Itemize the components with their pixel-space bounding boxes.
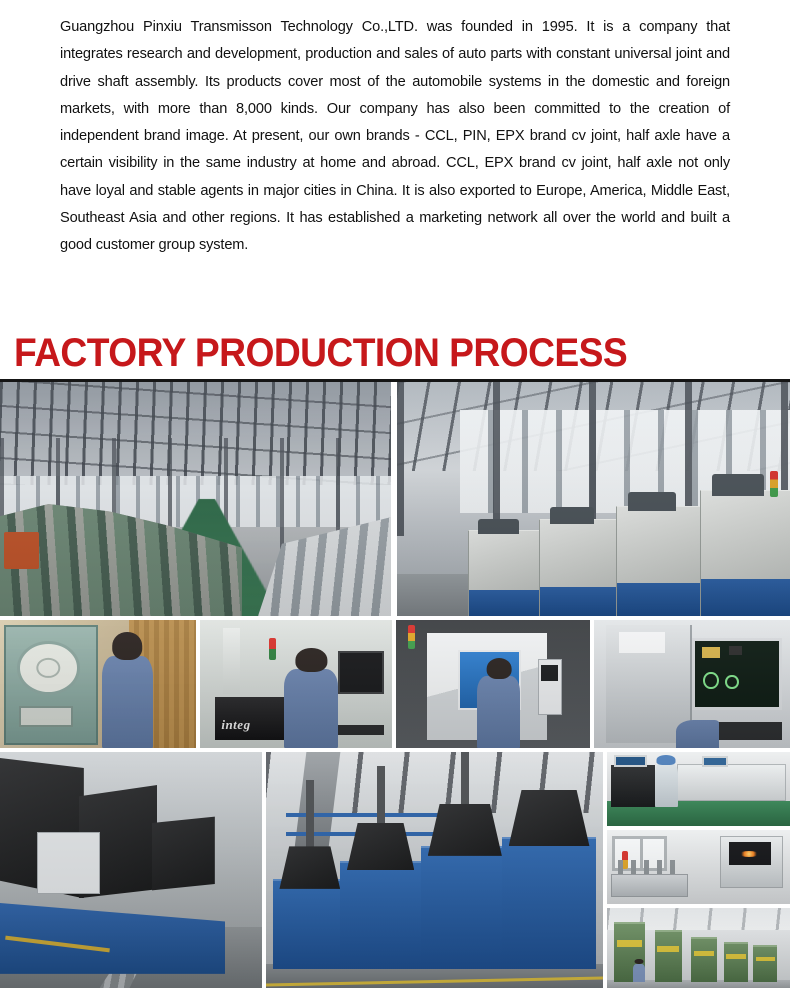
scene-cnc-lathe-operator [396,620,590,748]
placement-machine [611,765,655,806]
extraction-hood [279,846,340,888]
test-fixtures [618,860,680,875]
reflow-oven [677,764,787,801]
scene-optical-projector [594,620,790,748]
scene-furnace-line-wide [266,752,603,988]
cnc-machine-row [468,485,790,616]
worker-head [296,648,327,672]
display-element [729,646,742,655]
cnc-machine [468,530,545,616]
extraction-hood [428,804,502,856]
extraction-hood [509,790,590,847]
extraction-hood [152,813,215,893]
photo-furnace-line-left [0,752,262,988]
exhaust-stack [306,780,314,851]
photo-cmm-measuring: integ [200,620,392,748]
blue-furnace [502,837,596,969]
photo-hardness-tester [0,620,196,748]
extraction-hood [347,823,414,870]
andon-lamp [269,638,276,660]
operator-hand [676,720,719,748]
blue-furnace [421,846,509,969]
cleanroom-worker [655,762,679,806]
photo-optical-projector [594,620,790,748]
worker-figure [102,656,153,748]
machine-hood [628,492,676,512]
machine-hood [550,507,595,524]
andon-lamp [408,625,415,649]
furnace-chamber [729,842,771,865]
dial-gauge [17,641,80,695]
scene-cmm-measuring: integ [200,620,392,748]
scene-cnc-machine-line [397,382,790,616]
machine-hood [478,519,519,534]
lab-bench [611,874,688,896]
monitor [702,756,728,766]
blue-furnace [273,879,347,969]
blue-furnace [340,861,428,970]
scene-hardness-tester [0,620,196,748]
monitor [614,755,647,767]
scene-quench-lab [607,830,790,904]
orange-machine [4,532,39,569]
keyboard [331,725,385,735]
worker-cap [657,755,676,765]
machine-drawer [19,706,73,727]
hydraulic-press [655,930,682,981]
photo-furnace-line-wide [266,752,603,988]
cmm-column [223,628,240,695]
measurement-display [692,638,782,710]
display-element [702,647,721,658]
press-operator [633,964,646,982]
worker-head [486,658,511,680]
hydraulic-press [724,942,748,982]
machine-hood [712,474,764,496]
display-element [725,675,738,689]
press-guard [726,954,745,959]
hydraulic-press [753,945,777,982]
cnc-machine [700,490,790,616]
scene-furnace-line-left [0,752,262,988]
machine-brand-text: integ [221,717,250,733]
andon-lamp [770,471,778,497]
machine-base [540,587,623,616]
machine-base [617,583,706,616]
photo-cleanroom-reflow [607,752,790,826]
scene-press-shop [607,908,790,988]
furnace-cabinet [720,836,782,888]
exhaust-stack [461,752,469,809]
monitor [338,651,384,695]
worker-figure [284,669,338,748]
company-intro-section: Guangzhou Pinxiu Transmisson Technology … [60,14,730,260]
scene-cleanroom-reflow [607,752,790,826]
photo-press-shop [607,908,790,988]
worker-head [113,632,143,660]
photo-cnc-machine-line [397,382,790,616]
cnc-machine [616,506,706,616]
hydraulic-press [691,937,717,982]
photo-cnc-lathe-operator [396,620,590,748]
furnace-glow [739,851,759,857]
cnc-machine [539,519,623,616]
worker-figure [477,676,520,748]
photo-machine-shop-aisle [0,382,391,616]
machine-base [701,579,790,616]
display-element [703,672,718,689]
paper-sheet [619,632,664,653]
hardness-tester-machine [4,625,98,745]
page-root: Guangzhou Pinxiu Transmisson Technology … [0,0,790,988]
scene-machine-shop-aisle [0,382,391,616]
press-guard [617,940,642,947]
press-guard [756,957,775,961]
press-guard [657,946,679,952]
factory-photo-gallery: integ [0,382,790,988]
control-panel [538,659,562,715]
control-panel [37,832,100,893]
section-heading-factory-production-process: FACTORY PRODUCTION PROCESS [14,330,627,376]
press-guard [694,951,714,956]
exhaust-stack [377,766,385,827]
photo-quench-lab [607,830,790,904]
machine-base [469,590,545,616]
company-intro-paragraph: Guangzhou Pinxiu Transmisson Technology … [60,14,730,260]
